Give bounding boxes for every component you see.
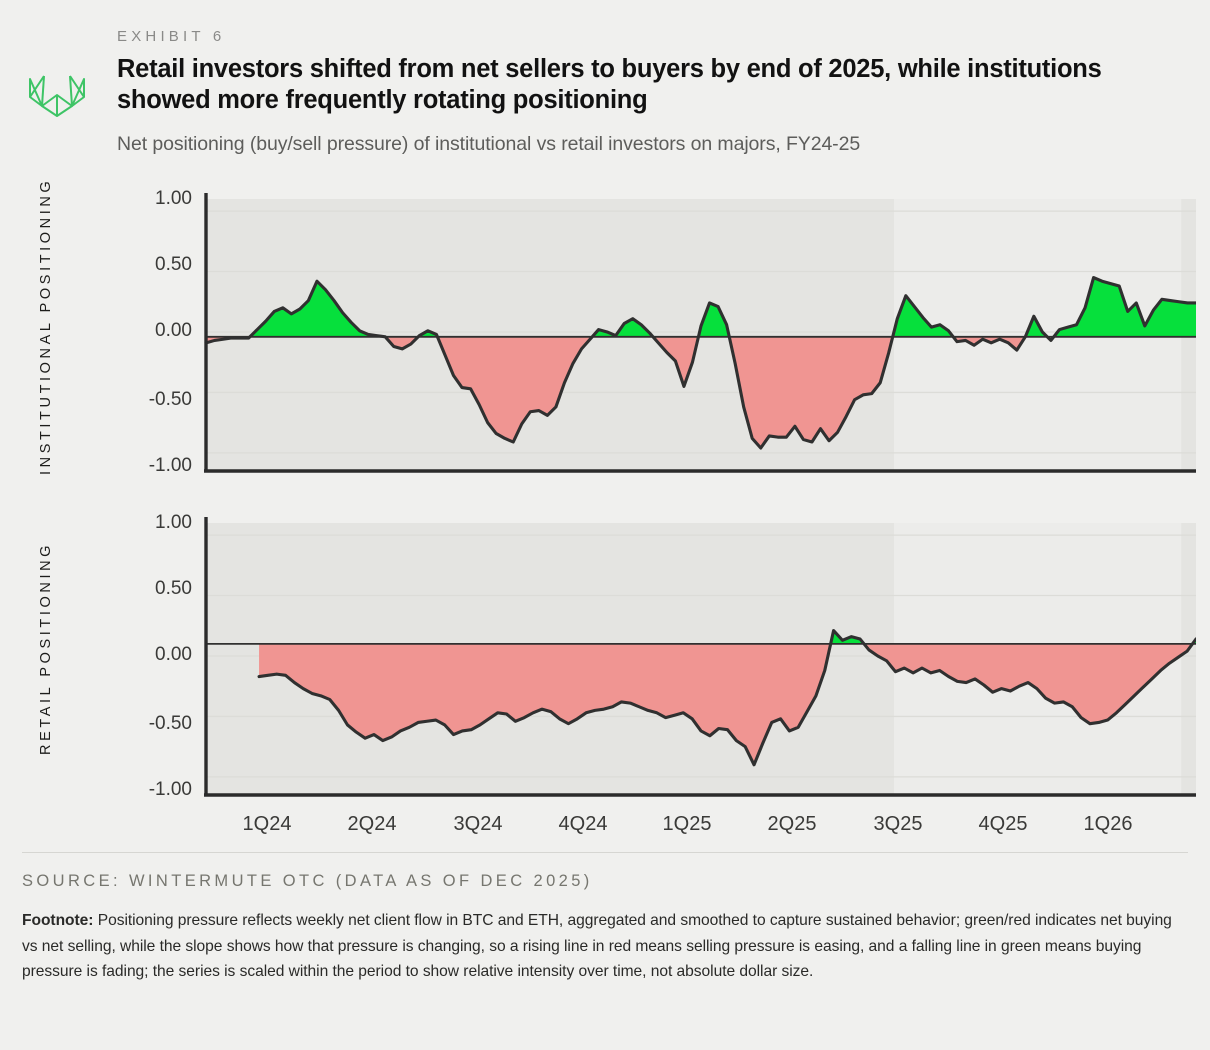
retail-plot	[200, 509, 1196, 809]
ytick: 0.00	[122, 320, 192, 342]
ytick: 0.50	[122, 254, 192, 276]
ytick: 1.00	[122, 512, 192, 534]
institutional-axis-title: INSTITUTIONAL POSITIONING	[38, 178, 54, 475]
footnote: Footnote: Positioning pressure reflects …	[22, 908, 1182, 985]
exhibit-label: EXHIBIT 6	[117, 28, 225, 45]
retail-axis-title: RETAIL POSITIONING	[38, 542, 54, 755]
ytick: 0.00	[122, 644, 192, 666]
xtick-label: 1Q25	[663, 813, 712, 836]
page-subtitle: Net positioning (buy/sell pressure) of i…	[117, 131, 1197, 157]
xtick-label: 2Q24	[348, 813, 397, 836]
ytick: -1.00	[122, 455, 192, 477]
ytick: 0.50	[122, 578, 192, 600]
xtick-label: 2Q25	[768, 813, 817, 836]
xtick-label: 3Q25	[874, 813, 923, 836]
xtick-label: 1Q26	[1084, 813, 1133, 836]
charts-container: INSTITUTIONAL POSITIONING RETAIL POSITIO…	[0, 175, 1210, 855]
footnote-label: Footnote:	[22, 912, 93, 929]
header: EXHIBIT 6 Retail investors shifted from …	[0, 0, 1210, 175]
wintermute-logo	[22, 62, 92, 122]
ytick: 1.00	[122, 188, 192, 210]
ytick: -0.50	[122, 713, 192, 735]
ytick: -0.50	[122, 389, 192, 411]
page-title: Retail investors shifted from net seller…	[117, 54, 1177, 116]
footnote-text: Positioning pressure reflects weekly net…	[22, 912, 1172, 980]
xtick-label: 4Q24	[559, 813, 608, 836]
institutional-plot	[200, 185, 1196, 485]
xtick-label: 4Q25	[979, 813, 1028, 836]
xtick-label: 3Q24	[454, 813, 503, 836]
source-text: SOURCE: WINTERMUTE OTC (DATA AS OF DEC 2…	[22, 872, 593, 891]
footer-divider	[22, 852, 1188, 853]
ytick: -1.00	[122, 779, 192, 801]
exhibit-page: EXHIBIT 6 Retail investors shifted from …	[0, 0, 1210, 1050]
xtick-label: 1Q24	[243, 813, 292, 836]
